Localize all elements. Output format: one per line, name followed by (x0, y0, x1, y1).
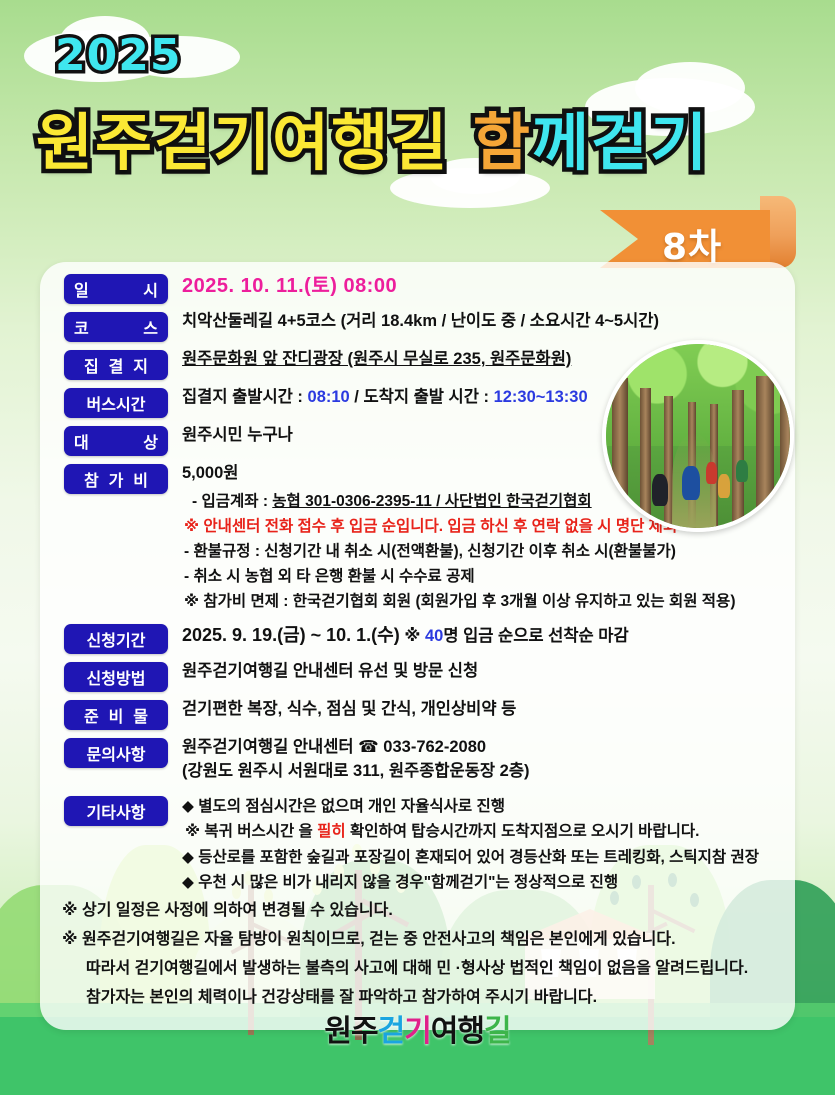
etc-text-2a: 복귀 버스시간 을 (200, 823, 317, 840)
bus-return-label: / 도착지 출발 시간 : (350, 388, 494, 406)
label-bus-text: 버스시간 (87, 391, 146, 415)
value-date-text: 2025. 10. 11.(토) 08:00 (182, 275, 397, 297)
label-target: 대 상 (64, 426, 168, 456)
value-period: 2025. 9. 19.(금) ~ 10. 1.(수) ※ 40명 입금 순으로… (168, 622, 779, 649)
label-fee-a: 참 (84, 467, 99, 491)
walker-figure (718, 474, 730, 498)
logo-part-3: 기 (404, 1014, 431, 1049)
logo-part-5: 길 (484, 1014, 511, 1049)
period-range: 2025. 9. 19.(금) ~ 10. 1.(수) (182, 625, 400, 645)
label-course-a: 코 (74, 315, 89, 339)
fee-account-number: 농협 301-0306-2395-11 / 사단법인 한국걷기협회 (272, 493, 591, 510)
telephone-icon: ☎ (358, 738, 379, 756)
etc-text-3: 등산로를 포함한 숲길과 포장길이 혼재되어 있어 경등산화 또는 트레킹화, … (194, 849, 759, 866)
note-line-1: ※ 상기 일정은 사정에 의하여 변경될 수 있습니다. (62, 898, 774, 924)
label-period-text: 신청기간 (87, 627, 146, 651)
title-part-2: 함 (473, 106, 532, 179)
info-row-method: 신청방법 원주걷기여행길 안내센터 유선 및 방문 신청 (64, 660, 779, 692)
value-method: 원주걷기여행길 안내센터 유선 및 방문 신청 (168, 660, 779, 684)
label-method-text: 신청방법 (87, 665, 146, 689)
diamond-bullet-icon: ◆ (182, 849, 194, 866)
bus-depart-time: 08:10 (308, 388, 350, 406)
walker-figure (736, 460, 748, 482)
info-row-etc: 기타사항 ◆ 별도의 점심시간은 없으며 개인 자율식사로 진행 ※ 복귀 버스… (64, 794, 779, 894)
poster-title: 원주걷기여행길 함께걷기 (36, 92, 709, 182)
fee-account-prefix: - 입금계좌 : (192, 493, 272, 510)
label-course-b: 스 (143, 315, 158, 339)
walker-figure (652, 474, 668, 506)
label-contact-text: 문의사항 (87, 741, 146, 765)
period-capacity: 40 (425, 627, 443, 645)
label-date-b: 시 (143, 277, 158, 301)
note-line-2: ※ 원주걷기여행길은 자율 탐방이 원칙이므로, 걷는 중 안전사고의 책임은 … (62, 927, 774, 953)
label-course: 코 스 (64, 312, 168, 342)
period-note-pre: ※ (400, 627, 425, 645)
etc-text-2b: 확인하여 탑승시간까지 도착지점으로 오시기 바랍니다. (346, 823, 700, 840)
value-contact: 원주걷기여행길 안내센터 ☎ 033-762-2080 (강원도 원주시 서원대… (168, 736, 779, 784)
label-target-a: 대 (74, 429, 89, 453)
label-meeting-c: 지 (133, 353, 148, 377)
logo-part-2: 걷 (378, 1014, 405, 1049)
fee-refund-rule: - 환불규정 : 신청기간 내 취소 시(전액환불), 신청기간 이후 취소 시… (182, 539, 779, 564)
label-fee: 참 가 비 (64, 464, 168, 494)
label-prepare-c: 물 (133, 703, 148, 727)
etc-line-1: ◆ 별도의 점심시간은 없으며 개인 자율식사로 진행 (182, 794, 779, 819)
label-fee-b: 가 (109, 467, 124, 491)
etc-line-4: ◆ 우천 시 많은 비가 내리지 않을 경우"함께걷기"는 정상적으로 진행 (182, 870, 779, 895)
label-meeting-b: 결 (109, 353, 124, 377)
label-prepare: 준 비 물 (64, 700, 168, 730)
contact-line-1: 원주걷기여행길 안내센터 ☎ 033-762-2080 (182, 736, 779, 760)
fee-exemption: ※ 참가비 면제 : 한국걷기협회 회원 (회원가입 후 3개월 이상 유지하고… (182, 589, 779, 614)
diamond-bullet-icon: ◆ (182, 798, 194, 815)
label-fee-c: 비 (133, 467, 148, 491)
logo-part-4: 여행 (431, 1014, 484, 1049)
info-row-contact: 문의사항 원주걷기여행길 안내센터 ☎ 033-762-2080 (강원도 원주… (64, 736, 779, 784)
value-course: 치악산둘레길 4+5코스 (거리 18.4km / 난이도 중 / 소요시간 4… (168, 310, 779, 334)
reference-mark-icon: ※ (185, 823, 200, 840)
edition-badge: 8차 (600, 196, 800, 268)
label-date-a: 일 (74, 277, 89, 301)
label-etc-text: 기타사항 (87, 799, 146, 823)
info-row-period: 신청기간 2025. 9. 19.(금) ~ 10. 1.(수) ※ 40명 입… (64, 622, 779, 654)
period-note-post: 명 입금 순으로 선착순 마감 (443, 627, 628, 645)
note-line-3: 따라서 걷기여행길에서 발생하는 불측의 사고에 대해 민 ·형사상 법적인 책… (62, 956, 774, 982)
value-date: 2025. 10. 11.(토) 08:00 (168, 272, 779, 301)
label-target-b: 상 (143, 429, 158, 453)
diamond-bullet-icon: ◆ (182, 874, 194, 891)
title-part-3: 께걷기 (532, 106, 709, 179)
label-method: 신청방법 (64, 662, 168, 692)
label-date: 일 시 (64, 274, 168, 304)
value-prepare: 걷기편한 복장, 식수, 점심 및 간식, 개인상비약 등 (168, 698, 779, 722)
forest-trail-photo (602, 340, 794, 532)
contact-center-name: 원주걷기여행길 안내센터 (182, 738, 358, 756)
info-row-date: 일 시 2025. 10. 11.(토) 08:00 (64, 272, 779, 304)
poster-year: 2025 (55, 30, 181, 81)
brand-logo: 원주걷기여행길 (0, 1006, 835, 1050)
contact-phone: 033-762-2080 (379, 738, 486, 756)
info-row-prepare: 준 비 물 걷기편한 복장, 식수, 점심 및 간식, 개인상비약 등 (64, 698, 779, 730)
label-prepare-b: 비 (109, 703, 124, 727)
label-contact: 문의사항 (64, 738, 168, 768)
label-bus: 버스시간 (64, 388, 168, 418)
value-meeting-text: 원주문화원 앞 잔디광장 (원주시 무실로 235, 원주문화원) (182, 350, 571, 368)
title-part-1: 원주걷기여행길 (36, 106, 473, 179)
label-meeting-a: 집 (84, 353, 99, 377)
disclaimer-notes: ※ 상기 일정은 사정에 의하여 변경될 수 있습니다. ※ 원주걷기여행길은 … (62, 898, 774, 1014)
label-meeting: 집 결 지 (64, 350, 168, 380)
value-etc: ◆ 별도의 점심시간은 없으며 개인 자율식사로 진행 ※ 복귀 버스시간 을 … (168, 794, 779, 894)
label-prepare-a: 준 (84, 703, 99, 727)
contact-address: (강원도 원주시 서원대로 311, 원주종합운동장 2층) (182, 760, 779, 784)
bus-return-time: 12:30~13:30 (494, 388, 588, 406)
logo-part-1: 원주 (324, 1014, 377, 1049)
bus-depart-label: 집결지 출발시간 : (182, 388, 308, 406)
info-row-course: 코 스 치악산둘레길 4+5코스 (거리 18.4km / 난이도 중 / 소요… (64, 310, 779, 342)
fee-cancel-rule: - 취소 시 농협 외 타 은행 환불 시 수수료 공제 (182, 564, 779, 589)
poster-root: 2025 원주걷기여행길 함께걷기 8차 일 시 2025. 10. 11.(토… (0, 0, 835, 1095)
label-period: 신청기간 (64, 624, 168, 654)
label-etc: 기타사항 (64, 796, 168, 826)
etc-text-4: 우천 시 많은 비가 내리지 않을 경우"함께걷기"는 정상적으로 진행 (194, 874, 618, 891)
walker-figure (682, 466, 700, 500)
walker-figure (706, 462, 717, 484)
etc-line-2: ※ 복귀 버스시간 을 필히 확인하여 탑승시간까지 도착지점으로 오시기 바랍… (182, 819, 779, 844)
etc-text-1: 별도의 점심시간은 없으며 개인 자율식사로 진행 (194, 798, 505, 815)
etc-emphasis: 필히 (317, 823, 346, 840)
etc-line-3: ◆ 등산로를 포함한 숲길과 포장길이 혼재되어 있어 경등산화 또는 트레킹화… (182, 845, 779, 870)
